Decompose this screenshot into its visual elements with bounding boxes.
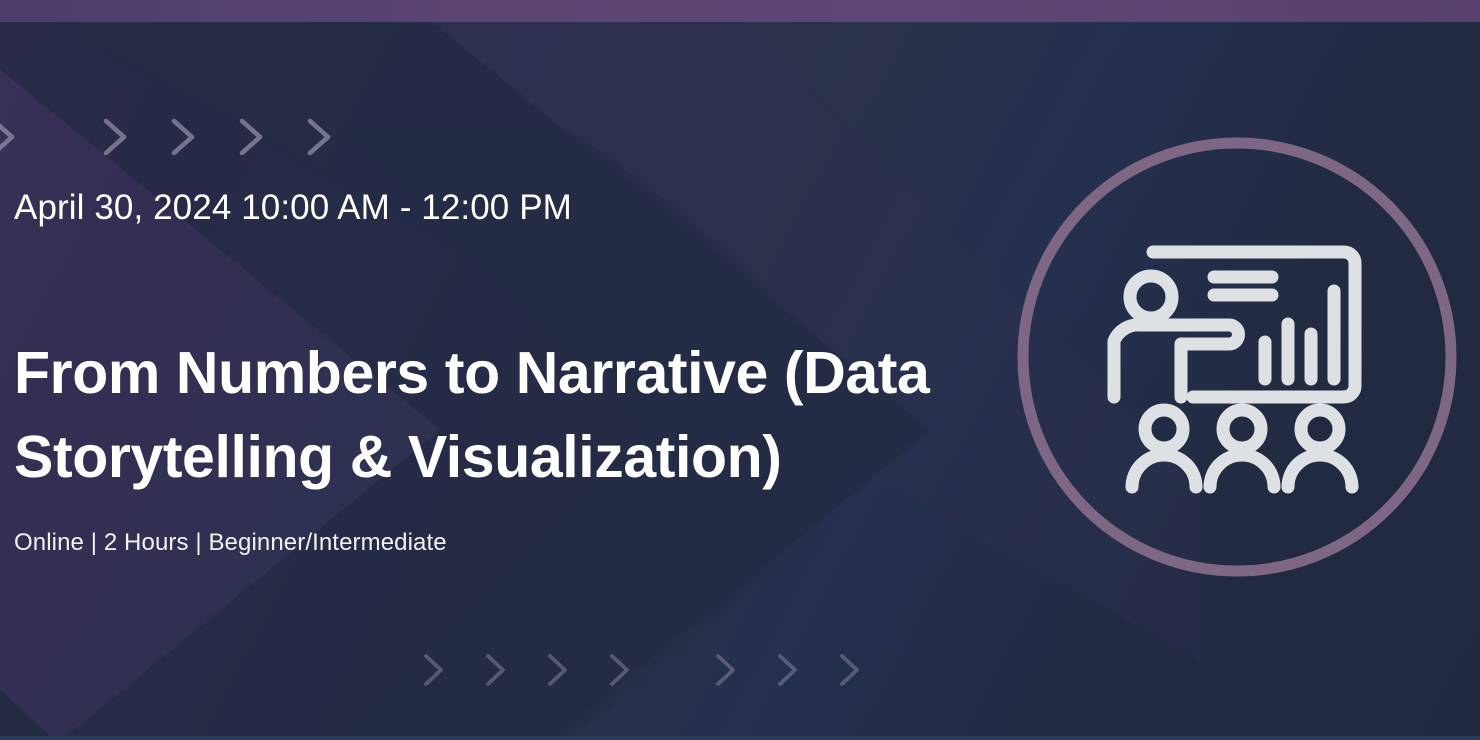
bottom-rule xyxy=(0,736,1480,740)
presentation-training-icon xyxy=(1014,134,1460,580)
event-title: From Numbers to Narrative (Data Storytel… xyxy=(14,332,1104,500)
banner-content: April 30, 2024 10:00 AM - 12:00 PM From … xyxy=(14,0,1104,740)
event-banner: April 30, 2024 10:00 AM - 12:00 PM From … xyxy=(0,0,1480,740)
event-meta: Online | 2 Hours | Beginner/Intermediate xyxy=(14,529,447,557)
event-datetime: April 30, 2024 10:00 AM - 12:00 PM xyxy=(14,188,572,228)
